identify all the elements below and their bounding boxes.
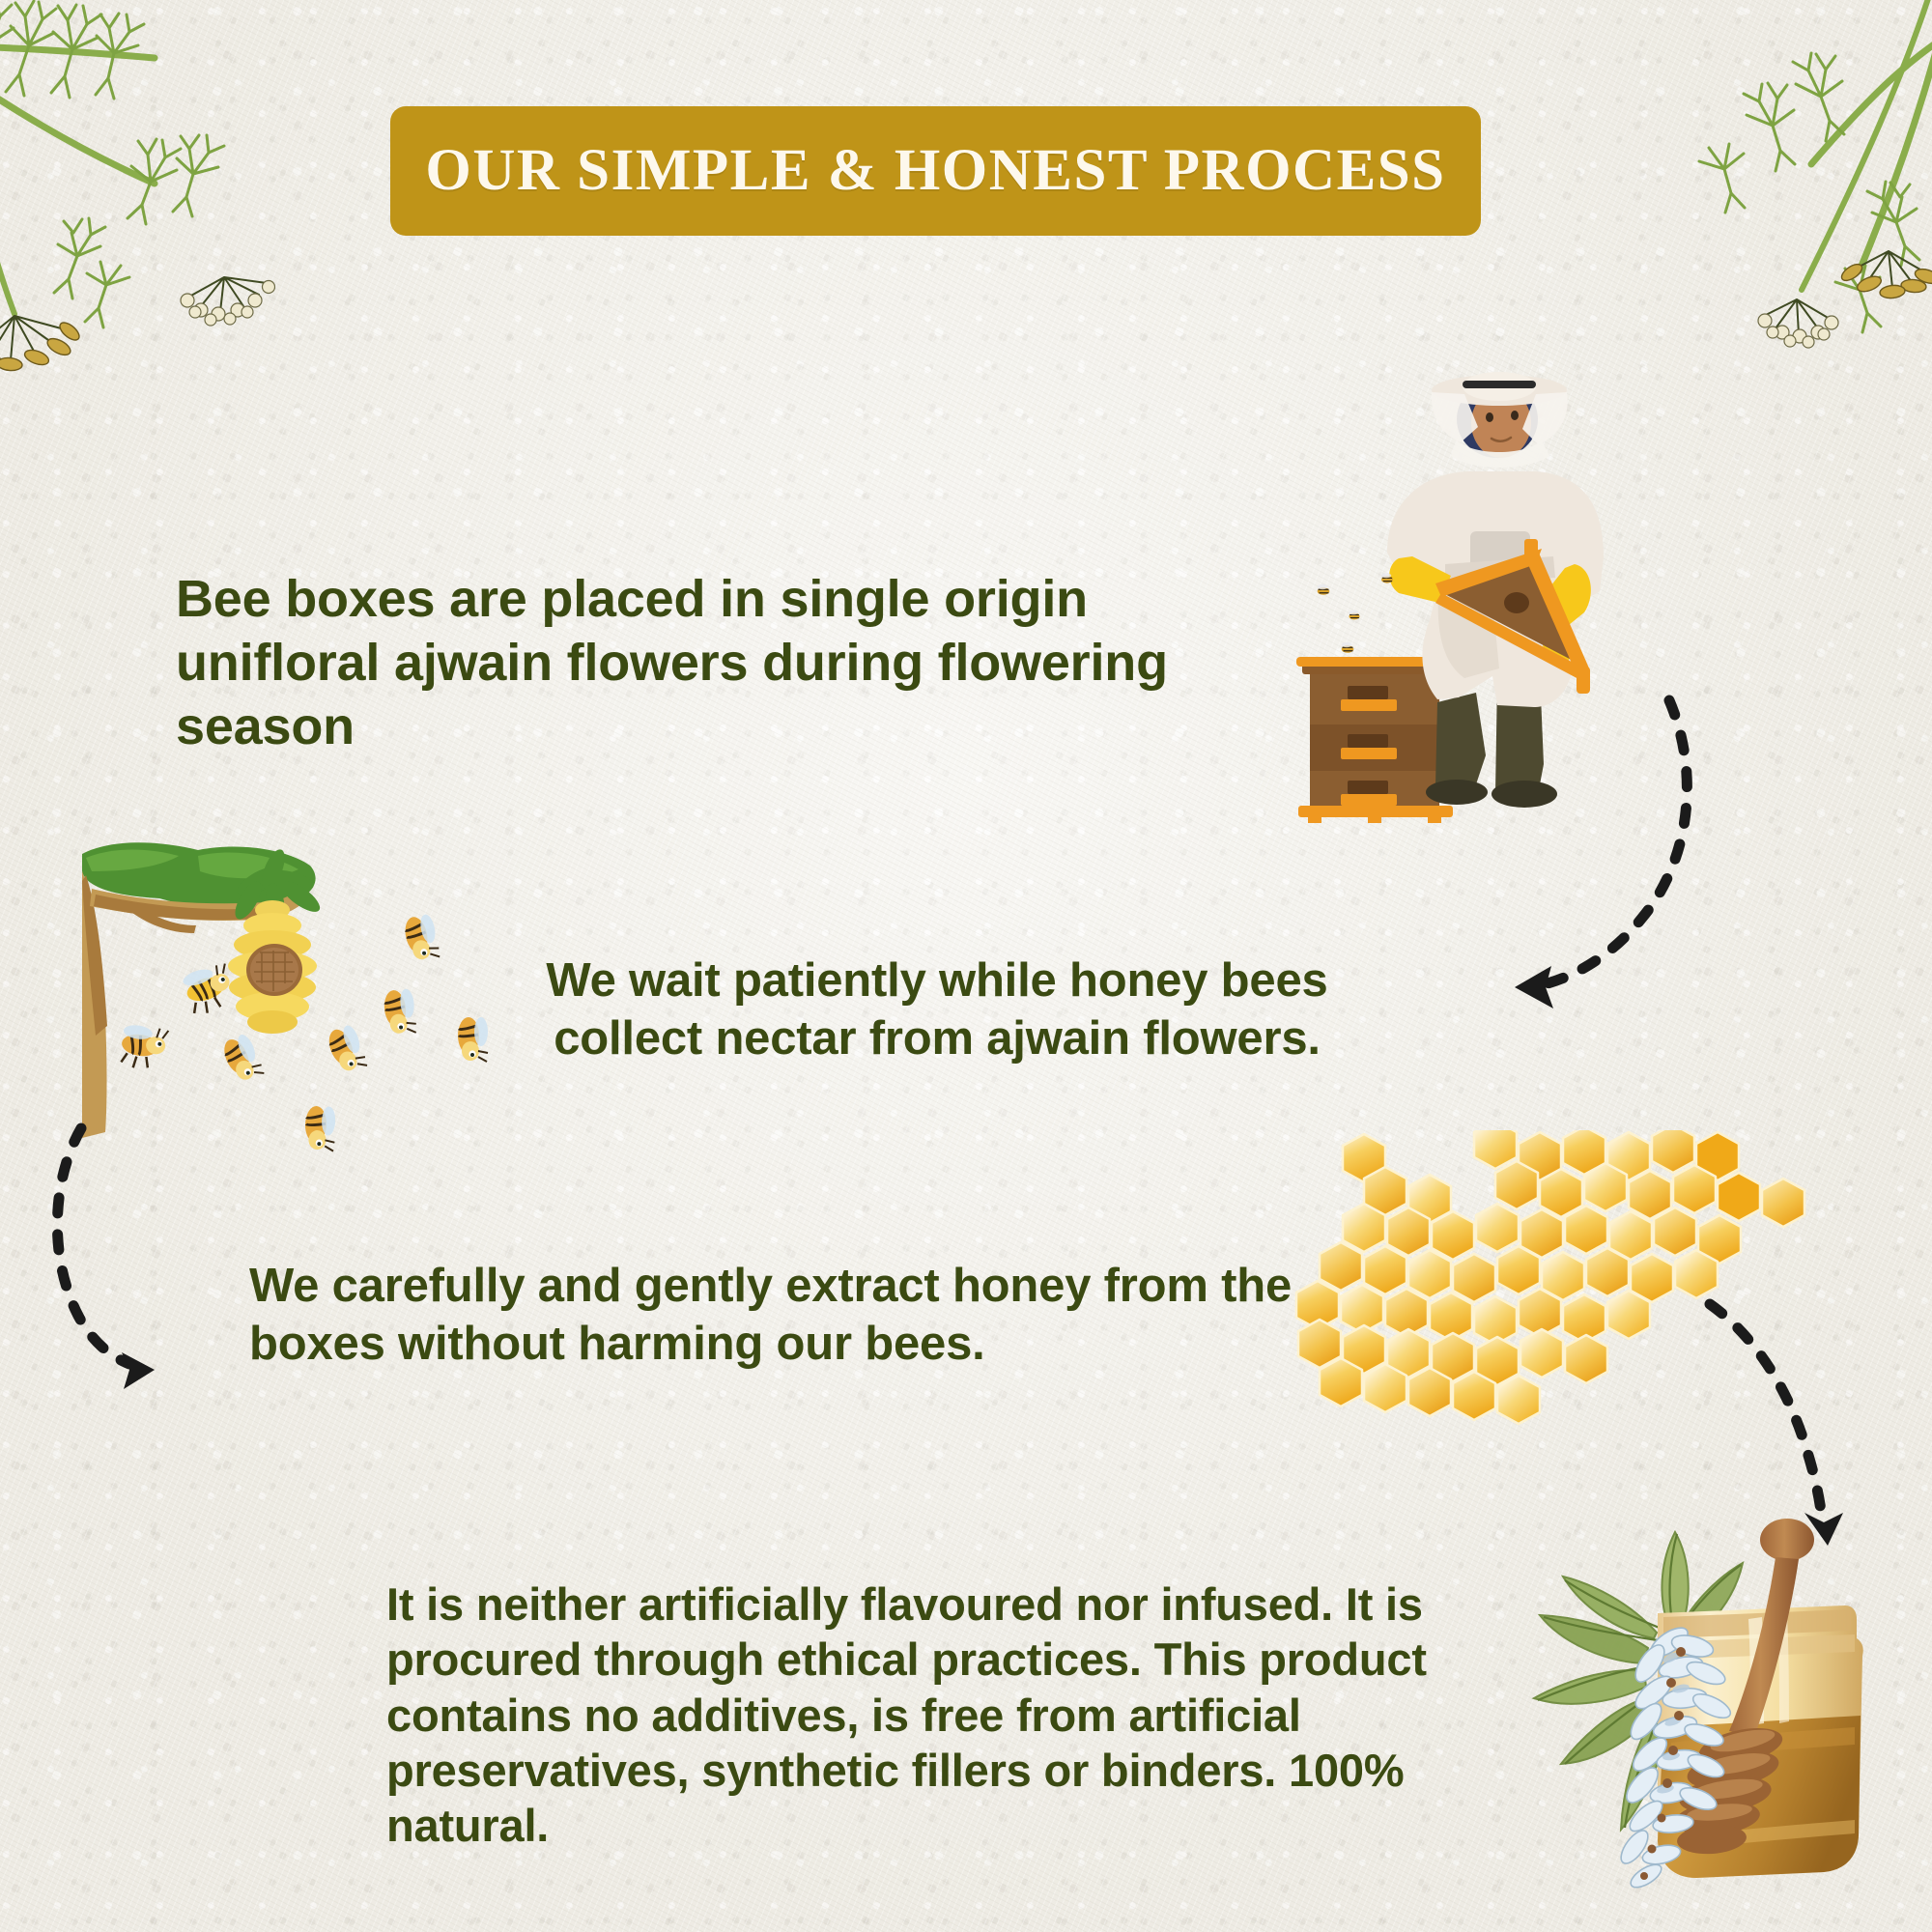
bee-icon [1318,573,1393,653]
step-3-text: We carefully and gently extract honey fr… [249,1258,1331,1374]
header-banner: OUR SIMPLE & HONEST PROCESS [390,106,1481,236]
step-4-text: It is neither artificially flavoured nor… [386,1577,1478,1854]
honey-jar-with-dipper-and-flowers-illustration [1526,1517,1932,1932]
page-title: OUR SIMPLE & HONEST PROCESS [425,137,1445,205]
arrow-step2-to-step3-icon [29,1111,222,1401]
arrow-step1-to-step2-icon [1507,676,1748,1024]
step-1-text: Bee boxes are placed in single origin un… [176,568,1296,759]
arrow-step3-to-step4-icon [1700,1294,1932,1565]
step-2-text: We wait patiently while honey bees colle… [502,952,1372,1068]
ajwain-branch-top-left-icon [0,0,348,430]
